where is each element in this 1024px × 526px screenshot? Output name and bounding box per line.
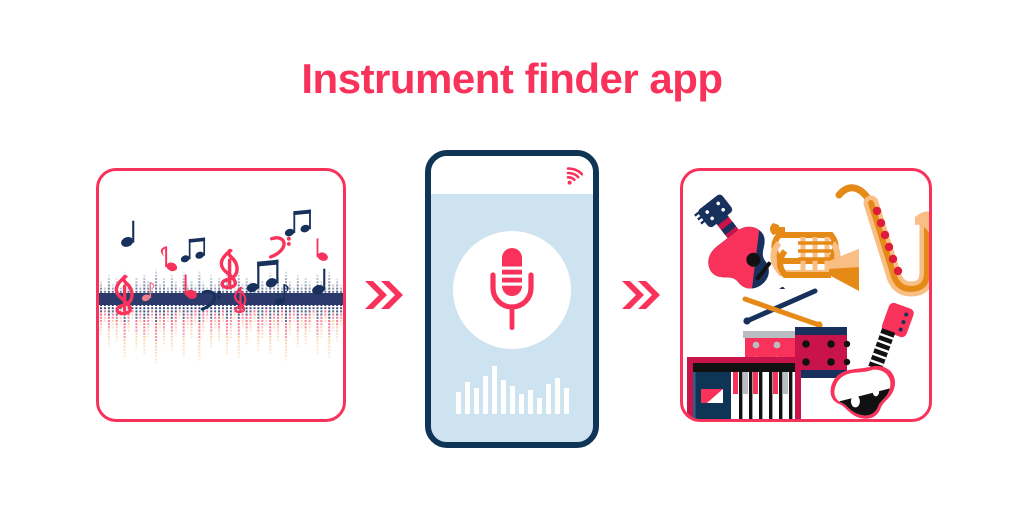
illustration-canvas: Instrument finder app [0,0,1024,526]
flow-arrow-2 [620,275,662,315]
quarter-note-note [184,275,198,301]
equalizer-bar [501,380,506,414]
equalizer-bar [546,384,551,414]
instrument-results-panel [680,168,932,422]
flow-arrow-1 [363,275,405,315]
treble-clef-note [235,288,245,312]
equalizer-bars [431,364,593,414]
equalizer-bar [492,366,497,414]
wifi-icon [553,162,583,186]
electric-guitar-icon[interactable] [827,299,931,421]
bass-clef-note [271,237,291,257]
bass-clef-note [202,290,221,309]
music-notes-group [99,171,343,419]
equalizer-bar [456,392,461,414]
phone-mockup [425,150,599,448]
equalizer-bar [537,398,542,414]
microphone-icon[interactable] [480,242,544,338]
treble-clef-note [116,276,132,313]
beamed-eighths-note [245,260,278,294]
quarter-note-note [120,221,135,249]
eighth-note-note [161,246,179,272]
equalizer-bar [528,390,533,414]
phone-status-bar [431,156,593,194]
beamed-eighths-note [180,238,205,264]
treble-clef-note [221,250,237,287]
keyboard-piano-icon[interactable] [687,353,801,422]
saxophone-icon[interactable] [831,177,931,305]
quarter-note-note [316,238,329,262]
equalizer-bar [510,386,515,414]
beamed-eighths-note [284,210,311,238]
quarter-note-note [311,269,326,297]
equalizer-bar [474,388,479,414]
equalizer-bar [483,376,488,414]
eighth-note-note [141,282,155,302]
equalizer-bar [555,378,560,414]
equalizer-bar [519,394,524,414]
phone-screen [431,194,593,442]
eighth-note-note [274,284,289,306]
equalizer-bar [564,388,569,414]
audio-input-panel [96,168,346,422]
page-title: Instrument finder app [0,55,1024,103]
equalizer-bar [465,382,470,414]
